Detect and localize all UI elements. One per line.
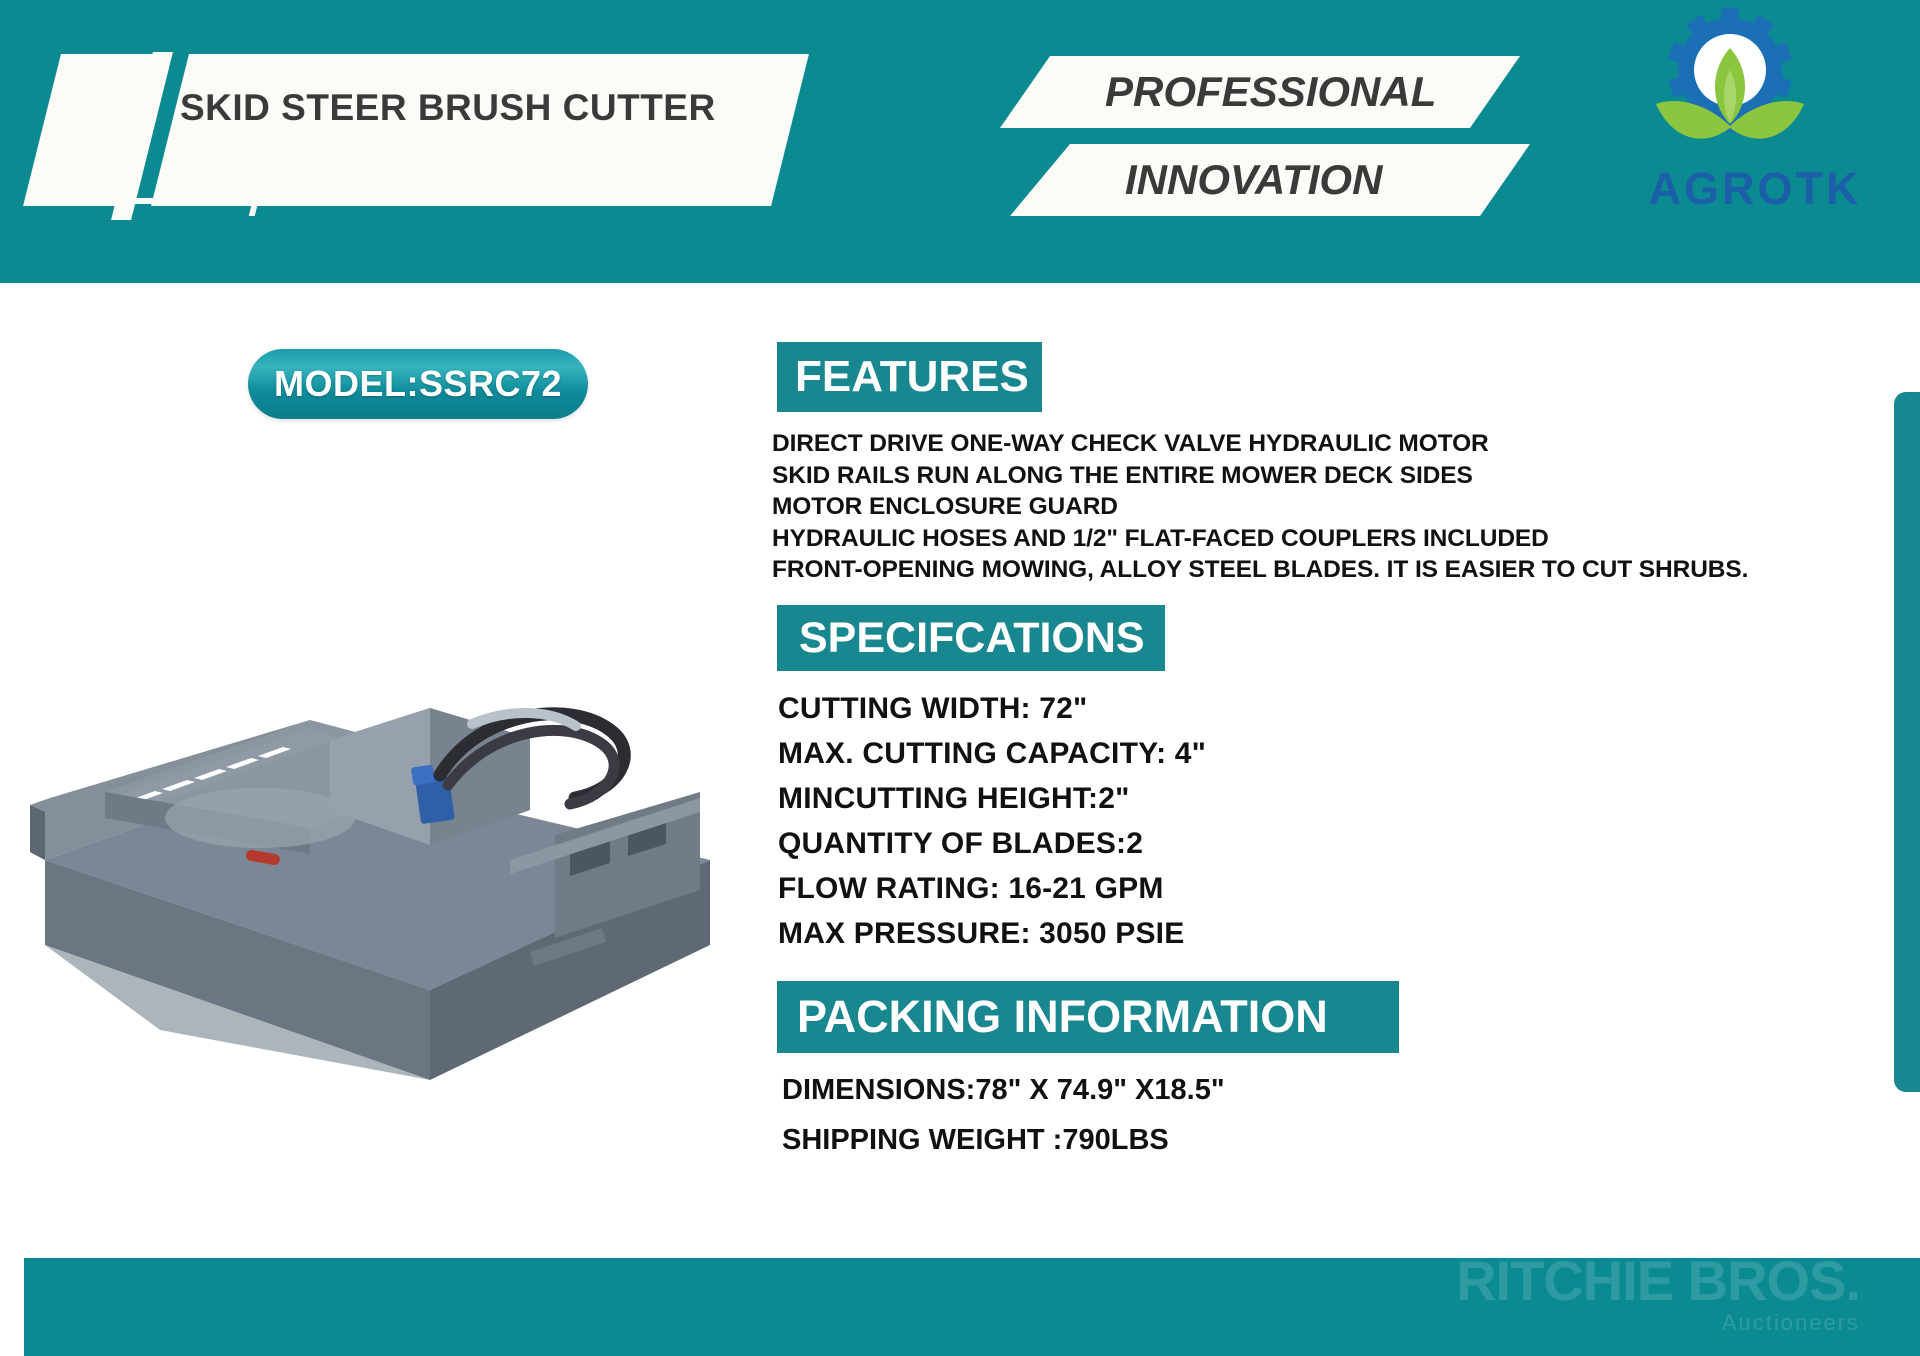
features-heading: FEATURES	[777, 352, 1029, 402]
packing-heading: PACKING INFORMATION	[777, 991, 1328, 1043]
brand-logo: AGROTK	[1610, 8, 1900, 223]
watermark-title: RITCHIE BROS.	[1300, 1258, 1860, 1310]
specifications-heading-band: SPECIFCATIONS	[777, 605, 1165, 671]
packing-item: DIMENSIONS:78" X 74.9" X18.5"	[782, 1065, 1482, 1115]
feature-item: HYDRAULIC HOSES AND 1/2" FLAT-FACED COUP…	[772, 523, 1782, 555]
product-title: SKID STEER BRUSH CUTTER	[180, 78, 740, 138]
watermark: RITCHIE BROS. Auctioneers	[1300, 1258, 1860, 1348]
footer-left-gap	[0, 1258, 24, 1356]
spec-item: MINCUTTING HEIGHT:2"	[778, 776, 1478, 821]
tagline-professional: PROFESSIONAL	[1105, 56, 1436, 128]
watermark-subtitle: Auctioneers	[1300, 1310, 1860, 1336]
specifications-list: CUTTING WIDTH: 72" MAX. CUTTING CAPACITY…	[778, 686, 1478, 956]
spec-item: QUANTITY OF BLADES:2	[778, 821, 1478, 866]
spec-item: FLOW RATING: 16-21 GPM	[778, 866, 1478, 911]
features-list: DIRECT DRIVE ONE-WAY CHECK VALVE HYDRAUL…	[772, 428, 1782, 586]
packing-list: DIMENSIONS:78" X 74.9" X18.5" SHIPPING W…	[782, 1065, 1482, 1165]
product-photo-brush-cutter	[10, 560, 750, 1080]
spec-item: MAX. CUTTING CAPACITY: 4"	[778, 731, 1478, 776]
features-heading-band: FEATURES	[777, 342, 1042, 412]
model-badge-label: MODEL:SSRC72	[248, 349, 588, 419]
page-footer: RITCHIE BROS. Auctioneers	[0, 1258, 1920, 1356]
spec-item: CUTTING WIDTH: 72"	[778, 686, 1478, 731]
brand-wordmark: AGROTK	[1610, 163, 1900, 215]
right-edge-tab	[1894, 392, 1920, 1092]
page-header: SKID STEER BRUSH CUTTER PROFESSIONAL INN…	[0, 0, 1920, 283]
spec-item: MAX PRESSURE: 3050 PSIE	[778, 911, 1478, 956]
tagline-innovation: INNOVATION	[1125, 144, 1382, 216]
feature-item: DIRECT DRIVE ONE-WAY CHECK VALVE HYDRAUL…	[772, 428, 1782, 460]
packing-item: SHIPPING WEIGHT :790LBS	[782, 1115, 1482, 1165]
feature-item: FRONT-OPENING MOWING, ALLOY STEEL BLADES…	[772, 554, 1782, 586]
gear-leaf-icon	[1638, 8, 1823, 168]
specifications-heading: SPECIFCATIONS	[777, 614, 1145, 663]
packing-heading-band: PACKING INFORMATION	[777, 981, 1399, 1053]
model-badge: MODEL:SSRC72	[248, 349, 588, 419]
feature-item: MOTOR ENCLOSURE GUARD	[772, 491, 1782, 523]
feature-item: SKID RAILS RUN ALONG THE ENTIRE MOWER DE…	[772, 460, 1782, 492]
header-underline	[109, 198, 580, 204]
